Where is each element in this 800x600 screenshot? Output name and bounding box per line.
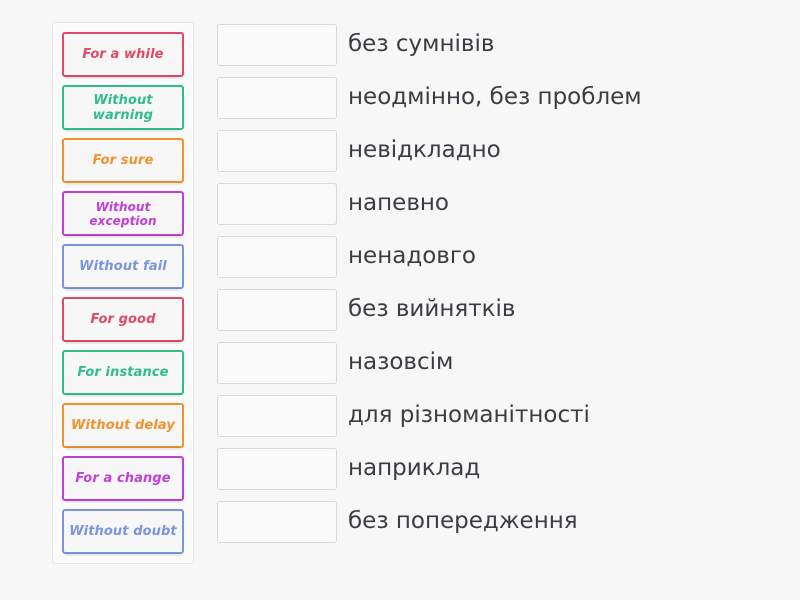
dropzone[interactable] xyxy=(217,77,337,119)
answer-label: напевно xyxy=(348,190,449,217)
match-row: неодмінно, без проблем xyxy=(217,75,777,120)
tile-label: Without warning xyxy=(69,93,177,123)
tile-label: Without fail xyxy=(79,259,167,274)
draggable-tile[interactable]: Without fail xyxy=(62,244,184,289)
dropzone[interactable] xyxy=(217,501,337,543)
tile-label: For good xyxy=(90,312,155,327)
dropzone[interactable] xyxy=(217,342,337,384)
answer-label: неодмінно, без проблем xyxy=(348,84,642,111)
answer-label: назовсім xyxy=(348,349,453,376)
draggable-tile[interactable]: Without delay xyxy=(62,403,184,448)
tile-label: For sure xyxy=(93,153,154,168)
match-row: наприклад xyxy=(217,446,777,491)
answer-label: без попередження xyxy=(348,508,578,535)
answer-rows: без сумнівів неодмінно, без проблем неві… xyxy=(217,22,777,544)
dropzone[interactable] xyxy=(217,289,337,331)
draggable-tile[interactable]: For a while xyxy=(62,32,184,77)
draggable-tile[interactable]: Without exception xyxy=(62,191,184,236)
answer-label: без сумнівів xyxy=(348,31,494,58)
dropzone[interactable] xyxy=(217,448,337,490)
match-up-board: For a while Without warning For sure Wit… xyxy=(0,0,800,600)
tile-label: Without exception xyxy=(69,200,177,228)
match-row: ненадовго xyxy=(217,234,777,279)
draggable-tile[interactable]: For a change xyxy=(62,456,184,501)
dropzone[interactable] xyxy=(217,130,337,172)
answer-label: для різноманітності xyxy=(348,402,590,429)
match-row: без сумнівів xyxy=(217,22,777,67)
match-row: напевно xyxy=(217,181,777,226)
draggable-tile[interactable]: Without warning xyxy=(62,85,184,130)
answer-label: невідкладно xyxy=(348,137,501,164)
answer-label: наприклад xyxy=(348,455,480,482)
draggable-tile[interactable]: For good xyxy=(62,297,184,342)
match-row: для різноманітності xyxy=(217,393,777,438)
tile-label: For a change xyxy=(75,471,170,486)
draggable-tiles-panel: For a while Without warning For sure Wit… xyxy=(52,22,194,564)
dropzone[interactable] xyxy=(217,395,337,437)
draggable-tile[interactable]: For sure xyxy=(62,138,184,183)
match-row: невідкладно xyxy=(217,128,777,173)
dropzone[interactable] xyxy=(217,183,337,225)
draggable-tile[interactable]: Without doubt xyxy=(62,509,184,554)
tile-label: For instance xyxy=(77,365,168,380)
tile-label: Without delay xyxy=(71,418,175,433)
answer-label: ненадовго xyxy=(348,243,476,270)
answer-label: без вийнятків xyxy=(348,296,515,323)
dropzone[interactable] xyxy=(217,24,337,66)
dropzone[interactable] xyxy=(217,236,337,278)
tile-label: For a while xyxy=(82,47,163,62)
draggable-tile[interactable]: For instance xyxy=(62,350,184,395)
match-row: без вийнятків xyxy=(217,287,777,332)
tile-label: Without doubt xyxy=(69,524,177,539)
match-row: без попередження xyxy=(217,499,777,544)
match-row: назовсім xyxy=(217,340,777,385)
